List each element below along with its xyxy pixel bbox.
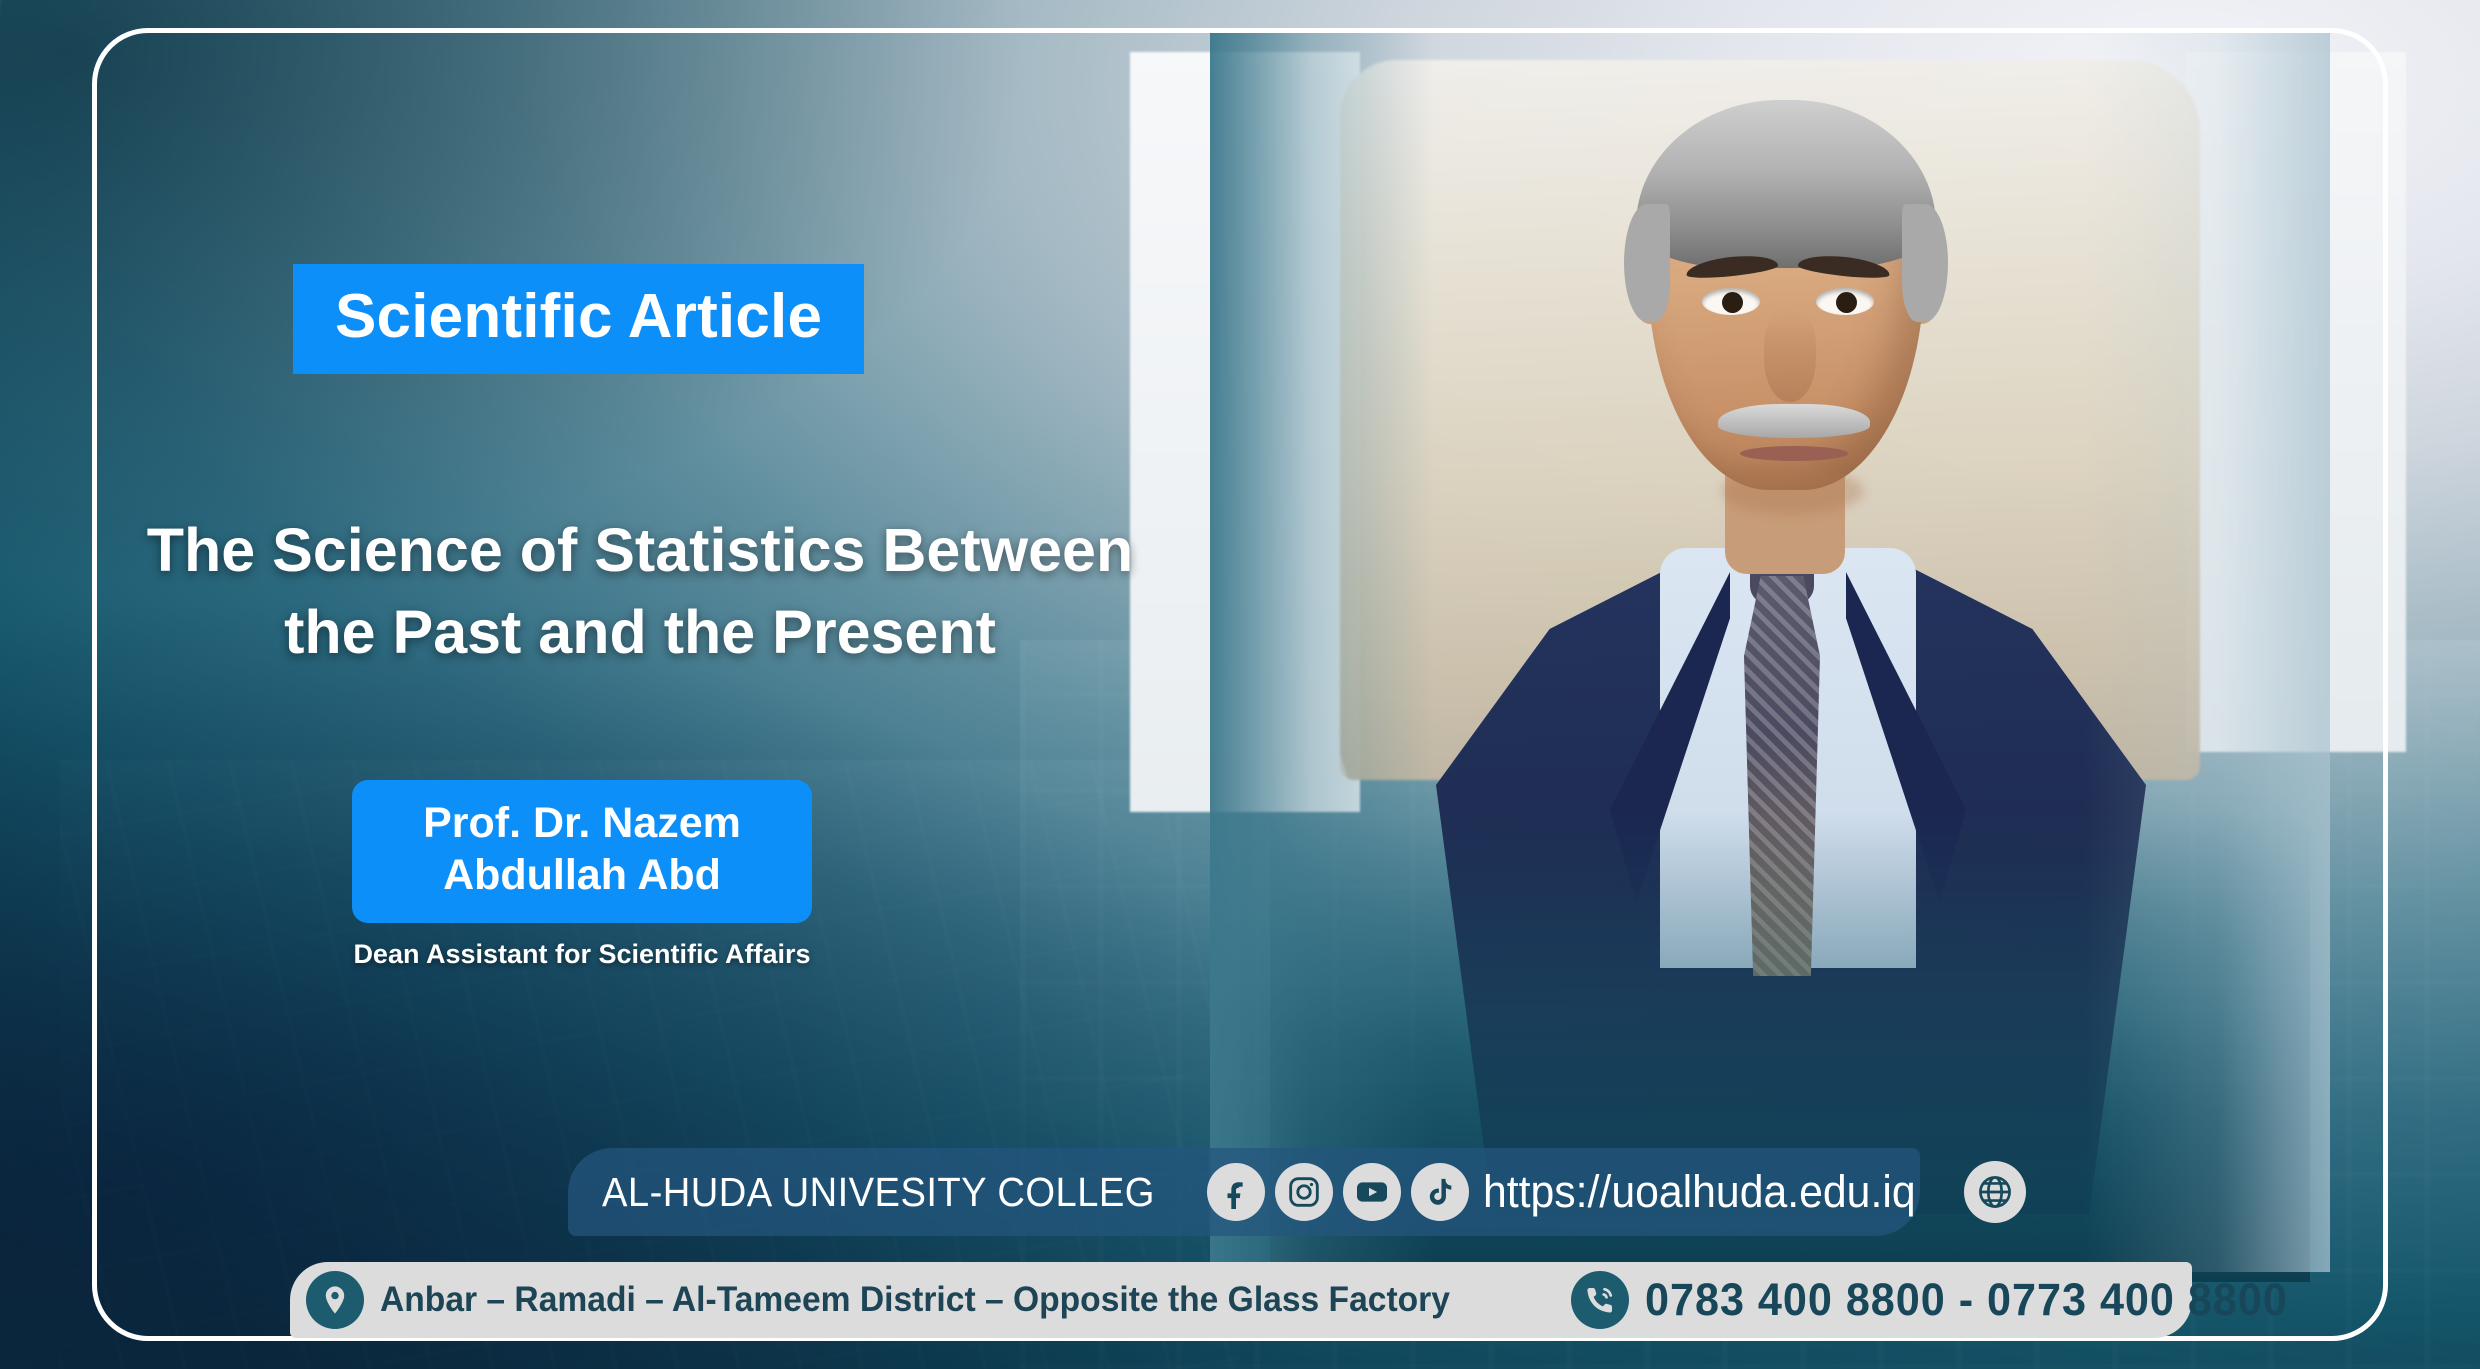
author-portrait-photo <box>1330 52 2210 1212</box>
phone-call-icon <box>1571 1271 1629 1329</box>
globe-icon[interactable] <box>1964 1161 2026 1223</box>
instagram-icon[interactable] <box>1275 1163 1333 1221</box>
organization-name: AL-HUDA UNIVESITY COLLEG <box>602 1169 1155 1216</box>
author-name-line-2: Abdullah Abd <box>372 850 792 902</box>
contact-bar: Anbar – Ramadi – Al-Tameem District – Op… <box>290 1262 2192 1338</box>
category-badge: Scientific Article <box>293 264 864 374</box>
youtube-icon[interactable] <box>1343 1163 1401 1221</box>
headline-line-1: The Science of Statistics Between <box>60 510 1220 592</box>
page-title: The Science of Statistics Between the Pa… <box>60 510 1220 673</box>
phone-numbers-text: 0783 400 8800 - 0773 400 8800 <box>1645 1274 2288 1326</box>
location-pin-icon <box>306 1271 364 1329</box>
social-media-bar: AL-HUDA UNIVESITY COLLEG https:/ <box>568 1148 1920 1236</box>
author-name-badge: Prof. Dr. Nazem Abdullah Abd <box>352 780 812 923</box>
background-building-photo <box>1020 640 2480 1369</box>
author-name-line-1: Prof. Dr. Nazem <box>372 798 792 850</box>
website-url[interactable]: https://uoalhuda.edu.iq <box>1483 1166 1916 1218</box>
author-role-label: Dean Assistant for Scientific Affairs <box>312 938 852 972</box>
address-text: Anbar – Ramadi – Al-Tameem District – Op… <box>380 1280 1450 1320</box>
facebook-icon[interactable] <box>1207 1163 1265 1221</box>
tiktok-icon[interactable] <box>1411 1163 1469 1221</box>
headline-line-2: the Past and the Present <box>60 592 1220 674</box>
poster-border-frame <box>92 28 2388 1341</box>
poster-canvas: Scientific Article The Science of Statis… <box>0 0 2480 1369</box>
